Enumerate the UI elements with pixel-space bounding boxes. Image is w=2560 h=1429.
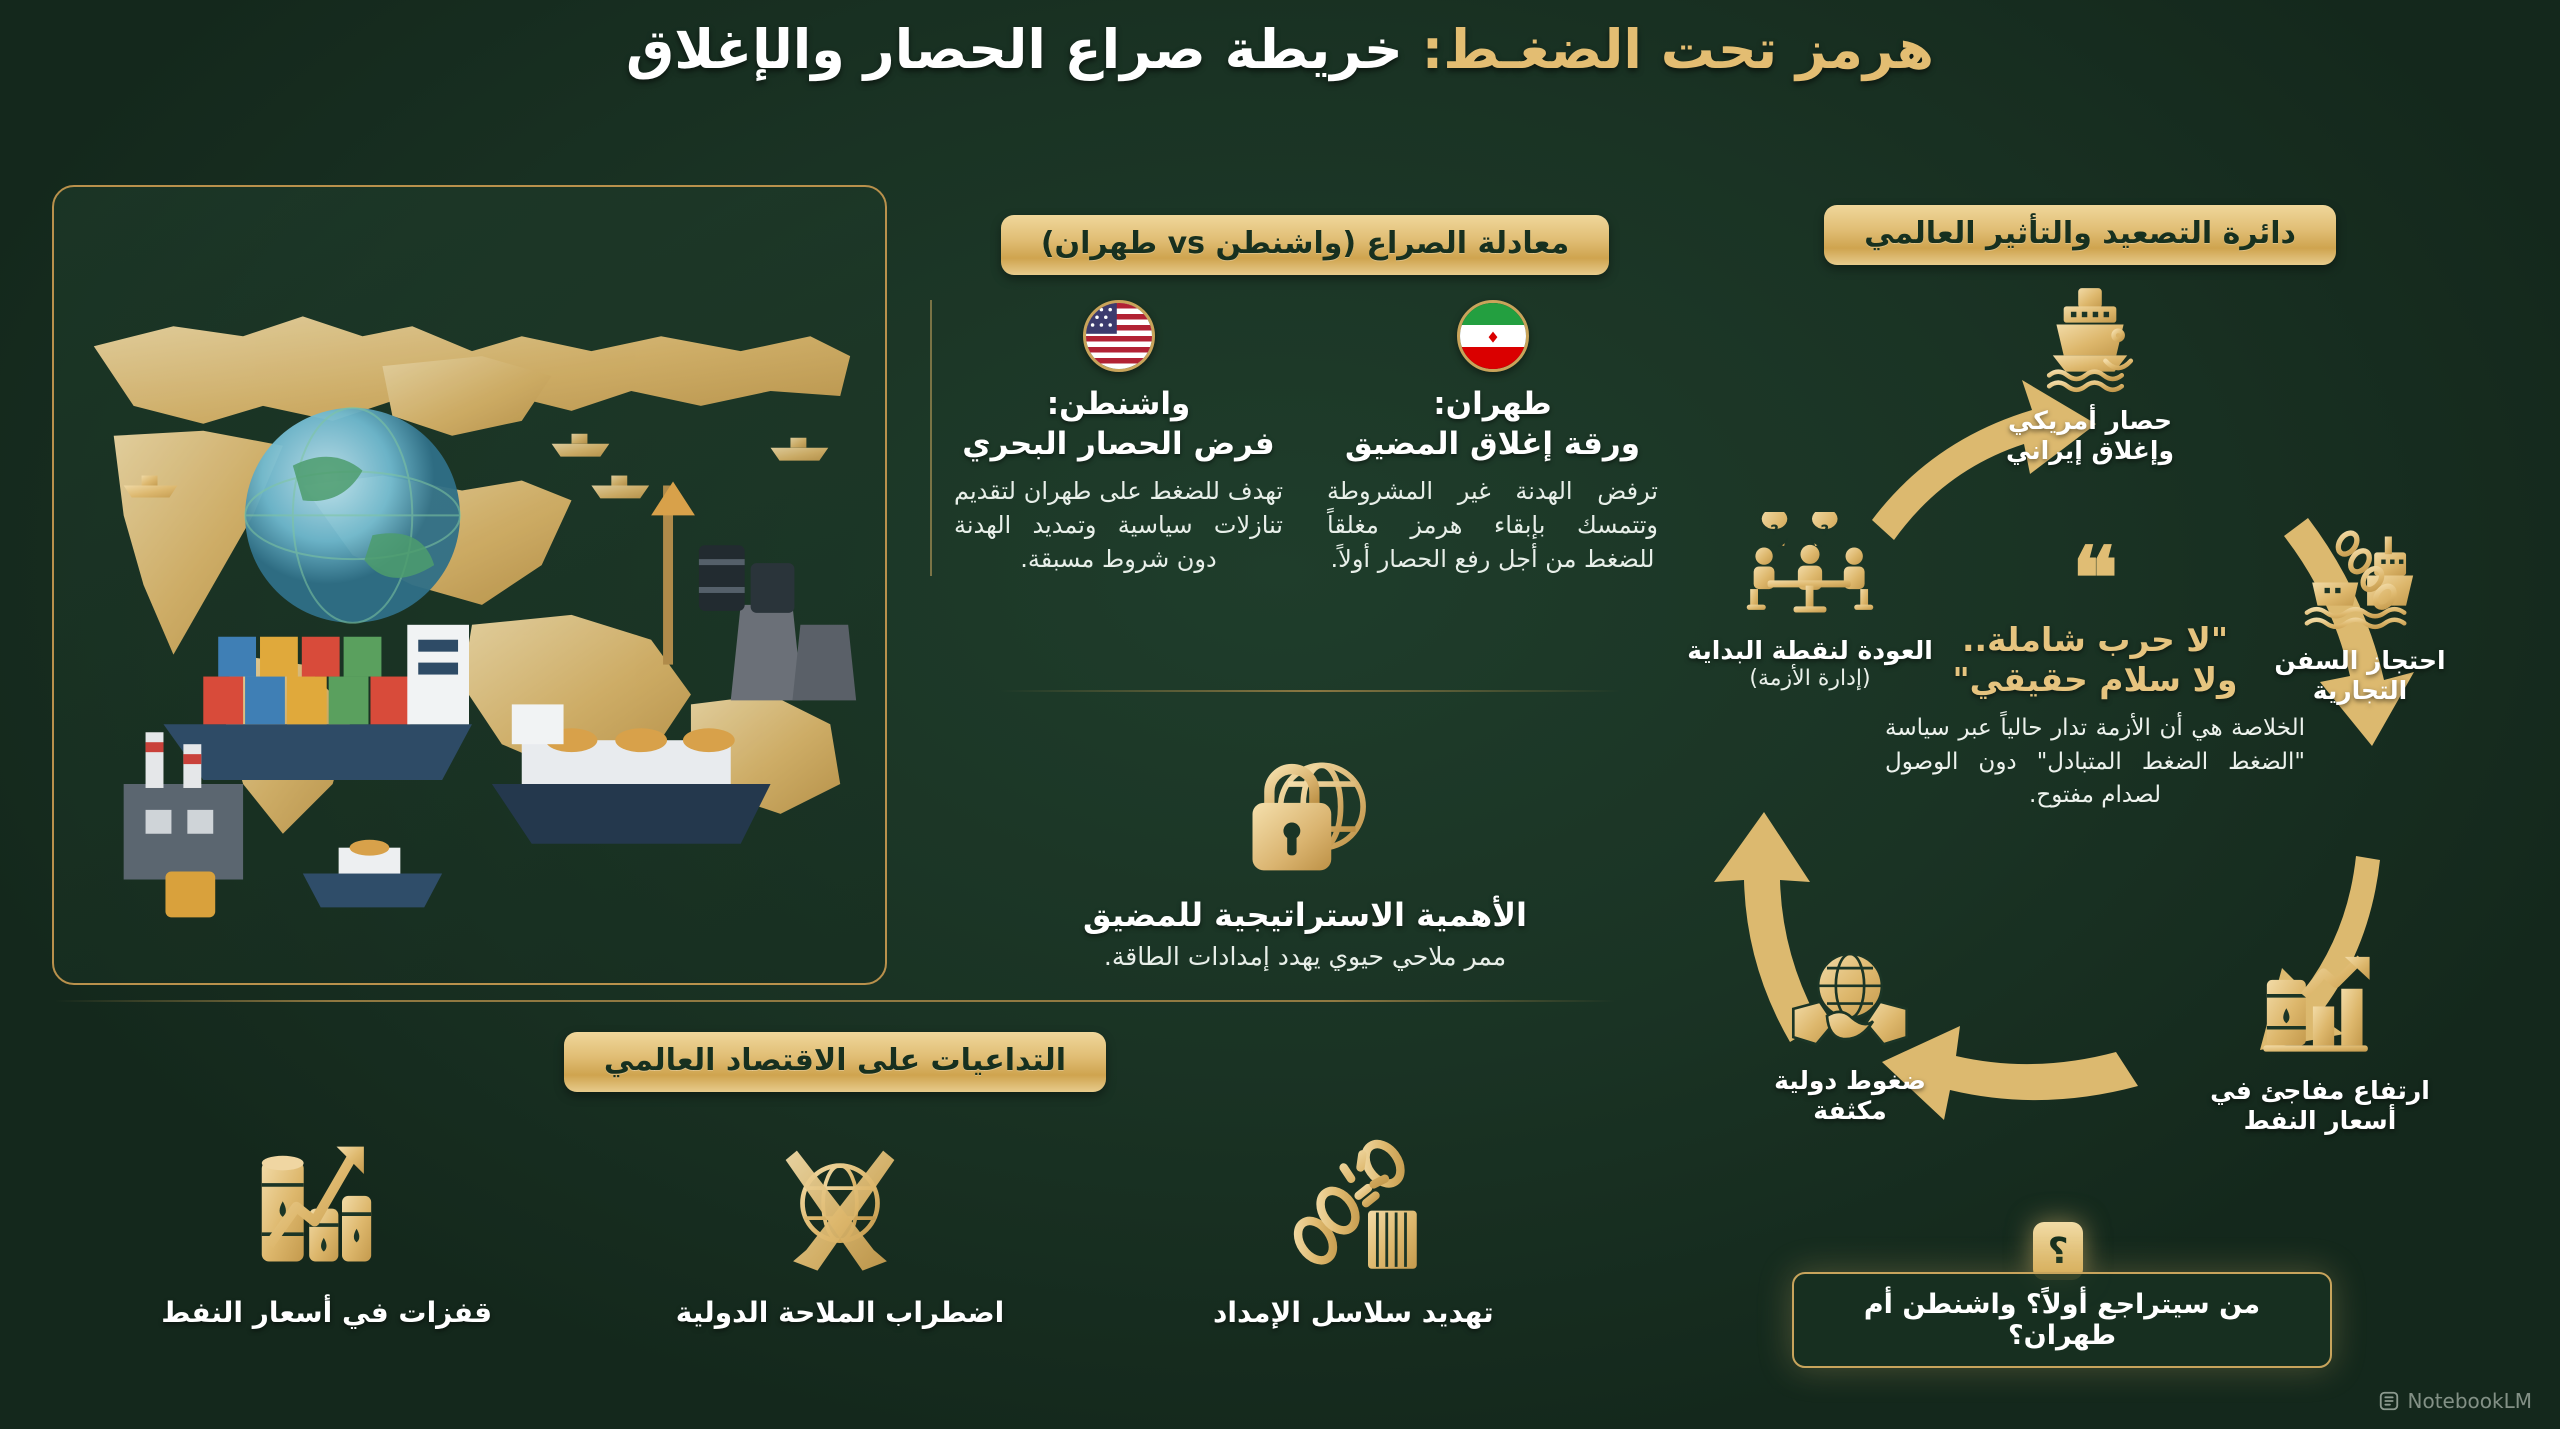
party-washington: واشنطن: فرض الحصار البحري تهدف للضغط على… — [930, 300, 1305, 576]
oil-barrels-rising-icon — [112, 1130, 542, 1280]
conflict-equation-header-pill: معادلة الصراع (واشنطن vs طهران) — [1001, 215, 1609, 275]
small-boat-icon — [303, 840, 442, 908]
oil-price-chart-icon — [2170, 950, 2470, 1068]
oil-drums-icon — [699, 545, 795, 613]
notebooklm-icon — [2378, 1390, 2400, 1412]
usa-flag-icon — [1083, 300, 1155, 372]
cycle-node-blockade-label: حصار أمريكيوإغلاق إيراني — [1940, 406, 2240, 466]
economy-item-navigation: اضطراب الملاحة الدولية — [625, 1130, 1055, 1329]
container-ship-icon — [163, 625, 472, 780]
economy-item-oil-prices-label: قفزات في أسعار النفط — [112, 1296, 542, 1329]
svg-text:?: ? — [1770, 522, 1779, 539]
party-tehran-name: طهران: — [1327, 386, 1658, 422]
economy-impact-header: التداعيات على الاقتصاد العالمي — [515, 1032, 1155, 1092]
strait-importance-desc: ممر ملاحي حيوي يهدد إمدادات الطاقة. — [930, 942, 1680, 971]
world-map-card — [52, 185, 887, 985]
party-tehran: طهران: ورقة إغلاق المضيق ترفض الهدنة غير… — [1305, 300, 1680, 576]
conflict-equation-header: معادلة الصراع (واشنطن vs طهران) — [930, 215, 1680, 275]
strait-importance-title: الأهمية الاستراتيجية للمضيق — [930, 896, 1680, 934]
party-washington-claim: فرض الحصار البحري — [954, 426, 1283, 464]
economy-item-oil-prices: قفزات في أسعار النفط — [112, 1130, 542, 1329]
ship-anchor-icon — [1940, 280, 2240, 398]
handshake-globe-icon — [1700, 940, 2000, 1058]
cycle-quote-body: الخلاصة هي أن الأزمة تدار حالياً عبر سيا… — [1885, 712, 2305, 812]
cycle-quote: ❝ "لا حرب شاملة..ولا سلام حقيقي" الخلاصة… — [1885, 545, 2305, 812]
cycle-node-oil-spike-label: ارتفاع مفاجئ فيأسعار النفط — [2170, 1076, 2470, 1136]
svg-text:?: ? — [1820, 522, 1829, 539]
cycle-node-intl-pressure: ضغوط دوليةمكثفة — [1700, 940, 2000, 1126]
crossed-swords-globe-icon — [625, 1130, 1055, 1280]
middle-divider — [1000, 690, 1620, 692]
page-title-accent: هرمز تحت الضغـط: — [1422, 18, 1934, 81]
page-title-rest: خريطة صراع الحصار والإغلاق — [626, 18, 1422, 81]
cycle-node-oil-spike: ارتفاع مفاجئ فيأسعار النفط — [2170, 950, 2470, 1136]
economy-impact-items: تهديد سلاسل الإمداد اضطراب الملاحة الدول… — [70, 1130, 1610, 1329]
escalation-cycle-header: دائرة التصعيد والتأثير العالمي — [1790, 205, 2370, 265]
party-washington-name: واشنطن: — [954, 386, 1283, 422]
economy-item-navigation-label: اضطراب الملاحة الدولية — [625, 1296, 1055, 1329]
lock-globe-icon — [930, 740, 1680, 890]
parties-comparison: طهران: ورقة إغلاق المضيق ترفض الهدنة غير… — [930, 300, 1680, 576]
supply-chain-broken-icon — [1138, 1130, 1568, 1280]
closing-question-badge: من سيتراجع أولاً؟ واشنطن أم طهران؟ — [1792, 1272, 2332, 1368]
watermark-label: NotebookLM — [2408, 1389, 2533, 1413]
infographic-root: هرمز تحت الضغـط: خريطة صراع الحصار والإغ… — [0, 0, 2560, 1429]
cycle-quote-text: "لا حرب شاملة..ولا سلام حقيقي" — [1885, 620, 2305, 701]
page-title: هرمز تحت الضغـط: خريطة صراع الحصار والإغ… — [0, 18, 2560, 81]
economy-item-supply-chain-label: تهديد سلاسل الإمداد — [1138, 1296, 1568, 1329]
watermark: NotebookLM — [2378, 1389, 2533, 1413]
section-divider — [55, 1000, 1615, 1002]
cycle-node-blockade: حصار أمريكيوإغلاق إيراني — [1940, 280, 2240, 466]
escalation-cycle-header-pill: دائرة التصعيد والتأثير العالمي — [1824, 205, 2336, 265]
iran-flag-icon — [1457, 300, 1529, 372]
world-map-shipping-illustration — [54, 187, 885, 983]
quote-mark-icon: ❝ — [1885, 545, 2305, 614]
economy-item-supply-chain: تهديد سلاسل الإمداد — [1138, 1130, 1568, 1329]
economy-impact-header-pill: التداعيات على الاقتصاد العالمي — [564, 1032, 1106, 1092]
cycle-node-intl-pressure-label: ضغوط دوليةمكثفة — [1700, 1066, 2000, 1126]
party-tehran-desc: ترفض الهدنة غير المشروطة وتتمسك بإبقاء ه… — [1327, 474, 1658, 576]
escalation-cycle: حصار أمريكيوإغلاق إيراني — [1640, 300, 2540, 1250]
party-tehran-claim: ورقة إغلاق المضيق — [1327, 426, 1658, 464]
party-washington-desc: تهدف للضغط على طهران لتقديم تنازلات سياس… — [954, 474, 1283, 576]
strait-importance-block: الأهمية الاستراتيجية للمضيق ممر ملاحي حي… — [930, 740, 1680, 971]
